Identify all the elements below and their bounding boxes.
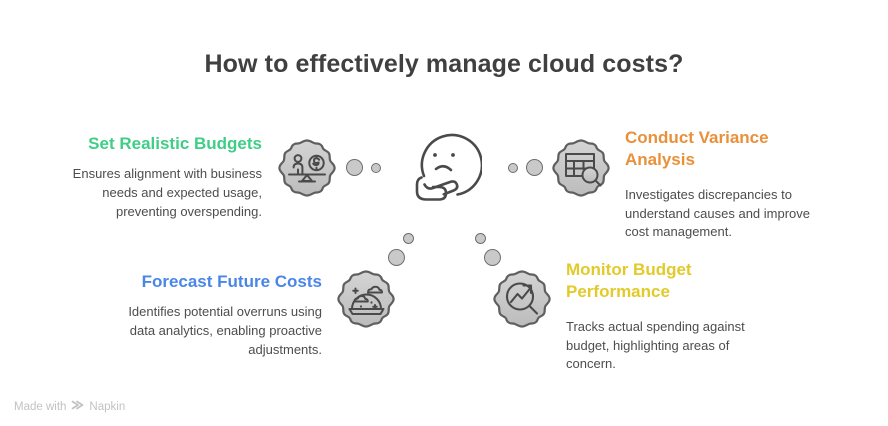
thought-trail-dot [508, 163, 518, 173]
watermark-prefix: Made with [14, 401, 66, 413]
block-body: Investigates discrepancies to understand… [625, 186, 830, 242]
block-body: Ensures alignment with business needs an… [40, 165, 262, 221]
spreadsheet-search-icon [549, 136, 613, 200]
thought-trail-dot [484, 249, 501, 266]
thinking-face-icon [408, 128, 482, 206]
block-forecast-future-costs: Forecast Future Costs Identifies potenti… [100, 271, 322, 360]
block-heading: Monitor Budget Performance [566, 259, 776, 304]
block-set-realistic-budgets: Set Realistic Budgets Ensures alignment … [40, 133, 262, 222]
block-conduct-variance-analysis: Conduct Variance Analysis Investigates d… [625, 127, 830, 242]
thought-trail-dot [346, 159, 363, 176]
thought-trail-dot [475, 233, 486, 244]
infographic-canvas: How to effectively manage cloud costs? [0, 0, 888, 426]
block-heading: Forecast Future Costs [100, 271, 322, 293]
budget-balance-scale-icon [275, 136, 339, 200]
block-body: Identifies potential overruns using data… [100, 303, 322, 359]
page-title: How to effectively manage cloud costs? [0, 50, 888, 79]
thought-trail-dot [371, 163, 381, 173]
block-body: Tracks actual spending against budget, h… [566, 318, 776, 374]
napkin-chevrons-icon [71, 399, 84, 414]
thought-trail-dot [526, 159, 543, 176]
block-monitor-budget-performance: Monitor Budget Performance Tracks actual… [566, 259, 776, 374]
trend-magnifier-icon [490, 267, 554, 331]
block-heading: Set Realistic Budgets [40, 133, 262, 155]
crystal-ball-forecast-icon [334, 267, 398, 331]
watermark-brand: Napkin [89, 401, 125, 413]
block-heading: Conduct Variance Analysis [625, 127, 830, 172]
thought-trail-dot [388, 249, 405, 266]
napkin-watermark[interactable]: Made with Napkin [14, 399, 125, 414]
thought-trail-dot [403, 233, 414, 244]
